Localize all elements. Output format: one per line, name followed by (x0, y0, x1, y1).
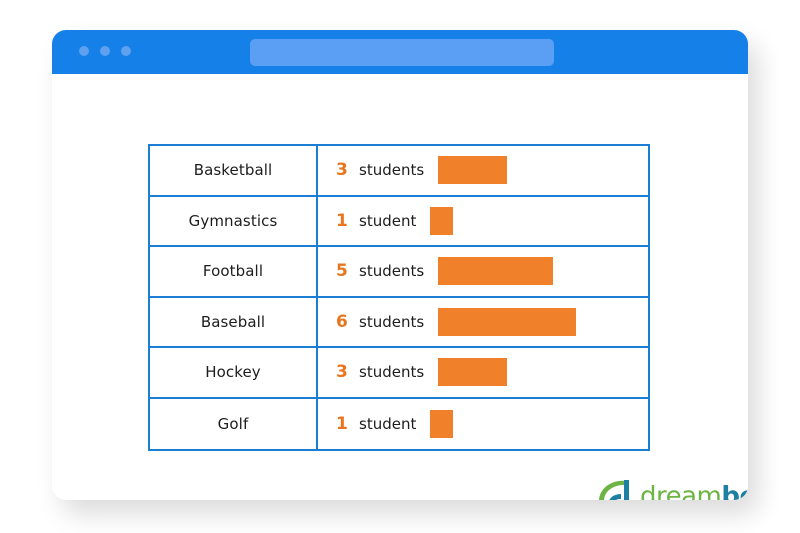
count-unit-label: student (359, 212, 416, 230)
value-bar (438, 308, 576, 336)
count-cell: 6 students (318, 298, 648, 347)
bar-track (438, 257, 648, 285)
sport-name: Gymnastics (189, 212, 278, 230)
count-unit-label: students (359, 313, 424, 331)
value-bar (430, 410, 453, 438)
count-number: 1 (336, 414, 351, 434)
bar-track (438, 156, 648, 184)
window-minimize-dot[interactable] (100, 46, 110, 56)
count-cell: 5 students (318, 247, 648, 296)
count-cell: 1 student (318, 197, 648, 246)
table-row: Golf 1 student (150, 399, 648, 450)
count-unit-label: students (359, 363, 424, 381)
count-number: 6 (336, 312, 351, 332)
sport-name: Basketball (194, 161, 273, 179)
count-unit-label: students (359, 161, 424, 179)
dreambox-logo: dreambox® By Discovery Education (597, 477, 737, 500)
value-bar (438, 358, 507, 386)
table-row: Gymnastics 1 student (150, 197, 648, 248)
window-maximize-dot[interactable] (121, 46, 131, 56)
table-row: Football 5 students (150, 247, 648, 298)
sports-tally-table: Basketball 3 students Gymnastics 1 stude… (148, 144, 650, 451)
logo-text-dream: dream (640, 482, 721, 500)
sport-label-cell: Golf (150, 399, 318, 450)
sport-label-cell: Basketball (150, 146, 318, 195)
sport-label-cell: Gymnastics (150, 197, 318, 246)
table-row: Basketball 3 students (150, 146, 648, 197)
browser-title-bar (52, 30, 748, 74)
logo-text-box: box (721, 482, 748, 500)
browser-window-card: Basketball 3 students Gymnastics 1 stude… (52, 30, 748, 500)
sport-label-cell: Football (150, 247, 318, 296)
window-controls (79, 46, 131, 56)
dreambox-wordmark: dreambox® (640, 477, 748, 500)
table-row: Hockey 3 students (150, 348, 648, 399)
sport-name: Football (203, 262, 263, 280)
count-number: 5 (336, 261, 351, 281)
count-unit-label: student (359, 415, 416, 433)
sport-name: Baseball (201, 313, 265, 331)
count-number: 1 (336, 211, 351, 231)
sport-name: Hockey (205, 363, 261, 381)
sport-label-cell: Baseball (150, 298, 318, 347)
count-number: 3 (336, 160, 351, 180)
bar-track (438, 358, 648, 386)
table-row: Baseball 6 students (150, 298, 648, 349)
count-number: 3 (336, 362, 351, 382)
sport-label-cell: Hockey (150, 348, 318, 397)
browser-content-area: Basketball 3 students Gymnastics 1 stude… (52, 74, 748, 500)
address-bar-input[interactable] (250, 39, 554, 66)
dreambox-logo-icon (597, 478, 637, 500)
count-cell: 1 student (318, 399, 648, 450)
sport-name: Golf (218, 415, 249, 433)
value-bar (438, 257, 553, 285)
count-cell: 3 students (318, 348, 648, 397)
count-cell: 3 students (318, 146, 648, 195)
count-unit-label: students (359, 262, 424, 280)
window-close-dot[interactable] (79, 46, 89, 56)
value-bar (438, 156, 507, 184)
bar-track (430, 207, 648, 235)
value-bar (430, 207, 453, 235)
bar-track (438, 308, 648, 336)
bar-track (430, 410, 648, 438)
